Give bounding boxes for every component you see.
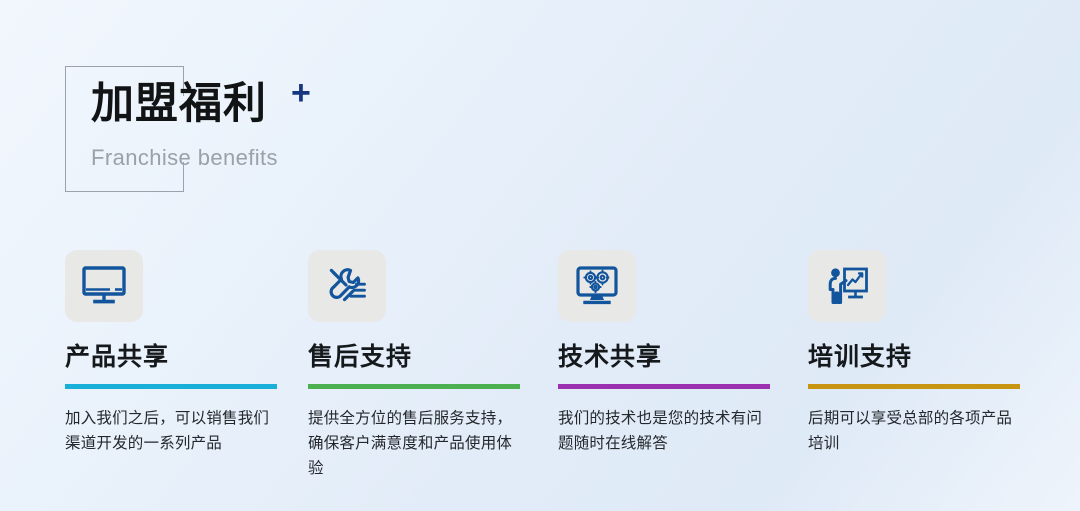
monitor-gears-icon [558, 250, 636, 322]
benefit-card-title: 技术共享 [558, 344, 730, 372]
benefit-card-title: 售后支持 [308, 344, 480, 372]
page-header: 加盟福利 + Franchise benefits [65, 66, 325, 192]
benefit-card-after-sales-support[interactable]: 售后支持 提供全方位的售后服务支持，确保客户满意度和产品使用体验 [250, 250, 500, 481]
benefit-card-rule [808, 384, 1020, 389]
benefit-card-product-sharing[interactable]: 产品共享 加入我们之后，可以销售我们渠道开发的一系列产品 [0, 250, 250, 481]
presenter-whiteboard-icon [808, 250, 886, 322]
page-subtitle: Franchise benefits [91, 145, 278, 171]
monitor-icon [65, 250, 143, 322]
plus-icon: + [291, 76, 311, 110]
benefit-card-tech-sharing[interactable]: 技术共享 我们的技术也是您的技术有问题随时在线解答 [500, 250, 750, 481]
benefits-card-list: 产品共享 加入我们之后，可以销售我们渠道开发的一系列产品 售后支持 [0, 250, 1080, 481]
benefit-card-description: 加入我们之后，可以销售我们渠道开发的一系列产品 [65, 406, 277, 456]
benefit-card-title: 培训支持 [808, 344, 980, 372]
benefit-card-training-support[interactable]: 培训支持 后期可以享受总部的各项产品培训 [750, 250, 1000, 481]
page-title: 加盟福利 [91, 83, 267, 126]
benefit-card-description: 我们的技术也是您的技术有问题随时在线解答 [558, 406, 770, 456]
benefit-card-description: 后期可以享受总部的各项产品培训 [808, 406, 1020, 456]
benefit-card-description: 提供全方位的售后服务支持，确保客户满意度和产品使用体验 [308, 406, 520, 481]
benefit-card-rule [558, 384, 770, 389]
benefit-card-title: 产品共享 [65, 344, 230, 372]
tools-wrench-screwdriver-icon [308, 250, 386, 322]
benefit-card-rule [65, 384, 277, 389]
benefit-card-rule [308, 384, 520, 389]
